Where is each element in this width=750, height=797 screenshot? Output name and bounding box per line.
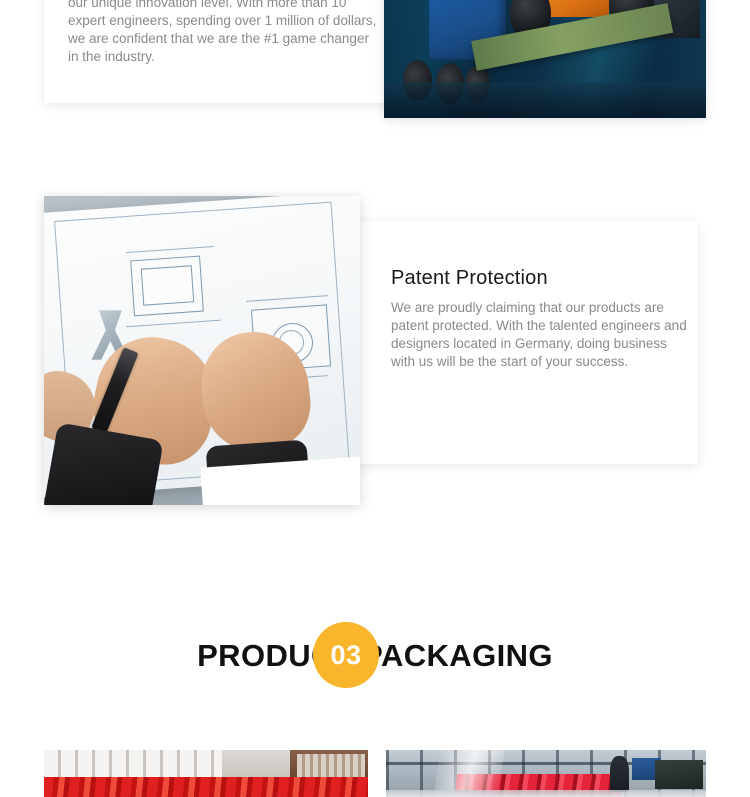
shelf-items-shape bbox=[297, 754, 365, 778]
tire-shape bbox=[609, 0, 654, 30]
feature-photo-03 bbox=[44, 196, 360, 505]
packaging-photo-row bbox=[0, 750, 750, 797]
feature-title-03: Patent Protection bbox=[391, 267, 689, 290]
packaging-photo-2 bbox=[386, 750, 706, 797]
feature-description-02: & forestry machinery, we are committed t… bbox=[68, 0, 378, 66]
drawing-rect bbox=[141, 265, 194, 306]
truck-loading-image bbox=[384, 0, 706, 118]
blueprint-engineers-image bbox=[44, 196, 360, 505]
feature-card-02-body: & forestry machinery, we are committed t… bbox=[68, 0, 378, 66]
worker-silhouette bbox=[610, 756, 629, 793]
warehouse-pallets-image bbox=[44, 750, 368, 797]
packaging-photo-1 bbox=[44, 750, 368, 797]
feature-section-02: & forestry machinery, we are committed t… bbox=[0, 0, 750, 120]
feature-description-03: We are proudly claiming that our product… bbox=[391, 299, 689, 371]
step-badge-03: 03 bbox=[313, 622, 379, 688]
factory-floor-image bbox=[386, 750, 706, 797]
ground-shadow bbox=[384, 82, 706, 118]
dark-stack-shape bbox=[655, 760, 703, 789]
red-machinery-row bbox=[44, 777, 368, 797]
feature-card-03-body: Patent Protection We are proudly claimin… bbox=[391, 267, 689, 371]
feature-section-03: Patent Protection We are proudly claimin… bbox=[0, 196, 750, 516]
feature-photo-02 bbox=[384, 0, 706, 118]
factory-floor-shape bbox=[386, 790, 706, 797]
tire-shape bbox=[510, 0, 552, 41]
page-root: & forestry machinery, we are committed t… bbox=[0, 0, 750, 797]
